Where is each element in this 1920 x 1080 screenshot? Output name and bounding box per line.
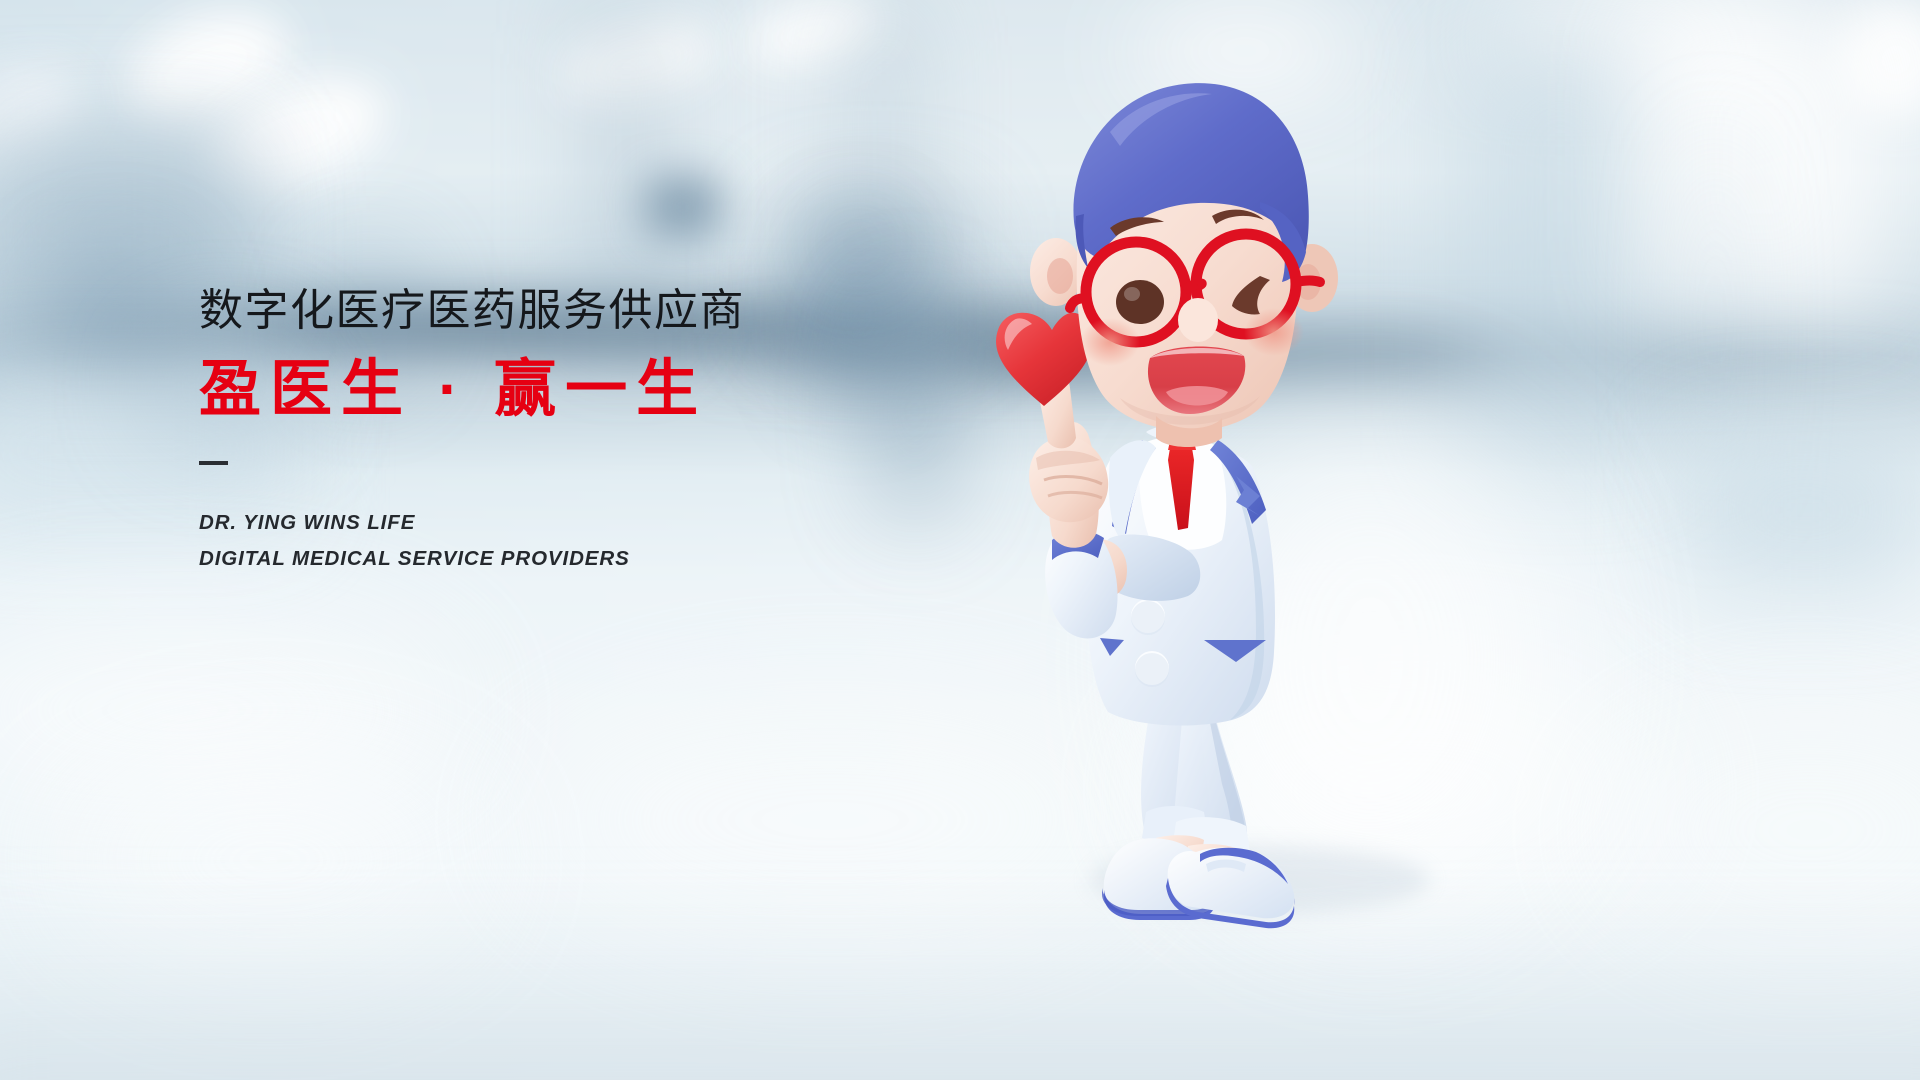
hero-subheadline: 数字化医疗医药服务供应商	[199, 289, 745, 333]
eye-open-left-gloss	[1124, 287, 1140, 301]
fist-raised	[1029, 436, 1108, 522]
hero-copy-block: 数字化医疗医药服务供应商 盈医生 · 赢一生 DR. YING WINS LIF…	[199, 289, 745, 577]
hero-stage: 数字化医疗医药服务供应商 盈医生 · 赢一生 DR. YING WINS LIF…	[0, 0, 1920, 1080]
hero-english-line-1: DR. YING WINS LIFE	[199, 505, 745, 541]
coat-button-2-shade	[1135, 653, 1169, 687]
hero-divider-rule	[199, 461, 228, 465]
eye-open-left	[1116, 280, 1164, 324]
blush-right	[1244, 308, 1304, 356]
heart-icon	[996, 313, 1092, 406]
hero-english-line-2: DIGITAL MEDICAL SERVICE PROVIDERS	[199, 541, 745, 577]
nose	[1178, 298, 1218, 342]
hero-headline: 盈医生 · 赢一生	[199, 359, 745, 421]
blush-left	[1080, 318, 1140, 366]
ear-left-inner	[1047, 258, 1073, 294]
cartoon-doctor-mascot	[960, 40, 1660, 1040]
glasses-temple-right	[1296, 281, 1320, 283]
coat-button-1-shade	[1131, 601, 1165, 635]
mascot-head	[1030, 83, 1338, 431]
